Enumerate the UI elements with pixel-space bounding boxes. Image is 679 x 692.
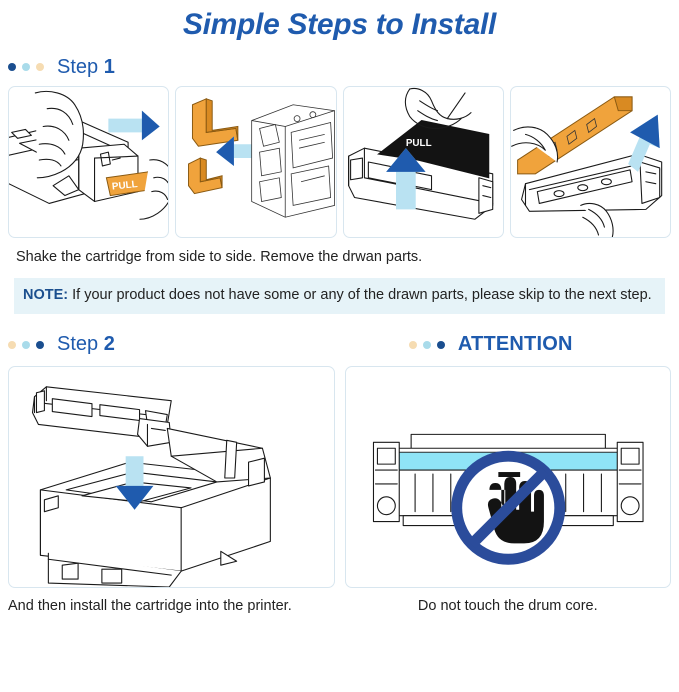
- step-1-caption: Shake the cartridge from side to side. R…: [8, 238, 671, 268]
- step-1-label: Step 1: [57, 56, 115, 79]
- remove-clips-illustration: [176, 87, 335, 237]
- dot-dark-icon: [8, 63, 16, 71]
- attention-caption: Do not touch the drum core.: [345, 588, 672, 616]
- step-1-dots: [8, 63, 44, 71]
- remove-clips-panel: [175, 86, 336, 238]
- note-box: NOTE: If your product does not have some…: [14, 278, 665, 314]
- step-2-section: Step 2: [8, 332, 335, 616]
- pull-tab-illustration: PULL: [9, 87, 168, 237]
- note-tag: NOTE:: [23, 287, 68, 303]
- step-2-label-prefix: Step: [57, 333, 104, 355]
- bottom-row: Step 2: [0, 332, 679, 616]
- dot-tan-icon: [36, 63, 44, 71]
- attention-label: ATTENTION: [458, 333, 573, 356]
- step-2-dots: [8, 341, 44, 349]
- attention-dots: [409, 341, 445, 349]
- attention-section: ATTENTION: [345, 332, 672, 616]
- pull-sheet-illustration: PULL: [344, 87, 503, 237]
- printer-install-panel: [8, 366, 335, 588]
- no-touch-icon: [456, 456, 559, 559]
- step-2-label-number: 2: [104, 333, 115, 355]
- step-1-label-prefix: Step: [57, 56, 104, 78]
- printer-install-illustration: [9, 367, 334, 587]
- pull-sheet-panel: PULL: [343, 86, 504, 238]
- dot-tan-icon: [409, 341, 417, 349]
- page-title: Simple Steps to Install: [0, 8, 679, 42]
- note-text: If your product does not have some or an…: [68, 287, 652, 303]
- step-2-header: Step 2: [8, 332, 335, 358]
- dot-light-icon: [22, 341, 30, 349]
- step-2-caption: And then install the cartridge into the …: [8, 588, 335, 616]
- step-1-label-number: 1: [104, 56, 115, 78]
- dot-dark-icon: [36, 341, 44, 349]
- step-1-section: Step 1: [0, 42, 679, 314]
- drum-warning-illustration: [346, 367, 671, 587]
- pull-tab-panel: PULL: [8, 86, 169, 238]
- remove-cover-panel: [510, 86, 671, 238]
- drum-warning-panel: [345, 366, 672, 588]
- pull-sheet-text: PULL: [405, 138, 431, 149]
- dot-light-icon: [22, 63, 30, 71]
- step-1-header: Step 1: [8, 54, 671, 80]
- dot-tan-icon: [8, 341, 16, 349]
- dot-dark-icon: [437, 341, 445, 349]
- remove-cover-illustration: [511, 87, 670, 237]
- dot-light-icon: [423, 341, 431, 349]
- attention-header: ATTENTION: [345, 332, 672, 358]
- step-1-panel-row: PULL: [8, 86, 671, 238]
- step-2-label: Step 2: [57, 333, 115, 356]
